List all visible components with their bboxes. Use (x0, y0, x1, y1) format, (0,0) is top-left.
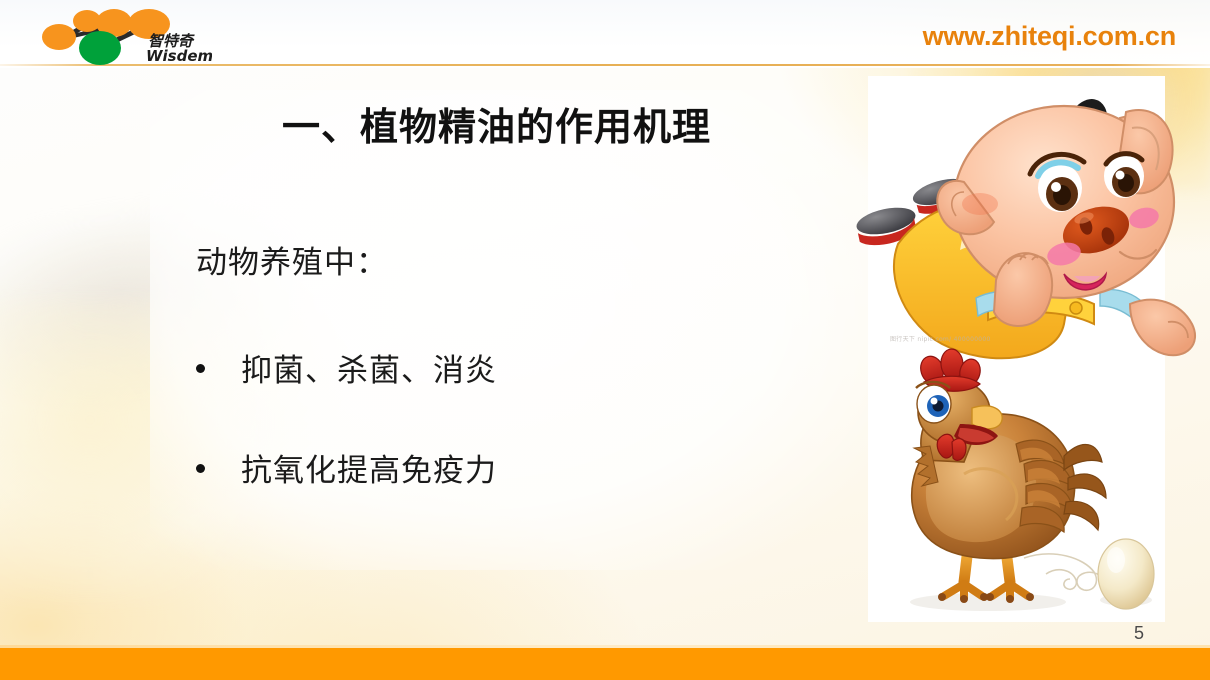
pig-illustration: 图行天下 nipic.com/ 400000000 (868, 76, 1165, 348)
bullet-dot-icon (196, 364, 205, 373)
bullet-dot-icon (196, 464, 205, 473)
company-logo[interactable]: 智特奇 Wisdem (22, 4, 212, 66)
list-item-label: 抑菌、杀菌、消炎 (241, 354, 497, 388)
decorative-swirl (1024, 554, 1110, 590)
hen-illustration: 图行天下 www.nipic.com by vectorfresh vector… (868, 352, 1165, 622)
svg-text:Wisdem: Wisdem (146, 47, 212, 65)
slide-canvas: 智特奇 Wisdem www.zhiteqi.com.cn 一、植物精油的作用机… (0, 0, 1210, 680)
page-number: 5 (1134, 623, 1144, 644)
list-item-label: 抗氧化提高免疫力 (241, 454, 497, 488)
logo-wordmark: 智特奇 Wisdem (146, 32, 212, 65)
footer-bar (0, 648, 1210, 680)
lead-text: 动物养殖中： (196, 246, 816, 280)
page-title: 一、植物精油的作用机理 (282, 96, 711, 151)
illustration-column: 图行天下 nipic.com/ 400000000 (868, 76, 1165, 622)
egg (1098, 539, 1154, 609)
site-url[interactable]: www.zhiteqi.com.cn (923, 21, 1176, 52)
hen-tail (1064, 445, 1106, 530)
bullet-list: 抑菌、杀菌、消炎 抗氧化提高免疫力 (196, 354, 816, 488)
pig-hand (994, 253, 1052, 326)
list-item: 抗氧化提高免疫力 (196, 454, 816, 488)
list-item: 抑菌、杀菌、消炎 (196, 354, 816, 388)
pig-watermark: 图行天下 nipic.com/ 400000000 (890, 334, 991, 343)
content-body: 动物养殖中： 抑菌、杀菌、消炎 抗氧化提高免疫力 (196, 246, 816, 488)
hen-comb (917, 348, 983, 391)
